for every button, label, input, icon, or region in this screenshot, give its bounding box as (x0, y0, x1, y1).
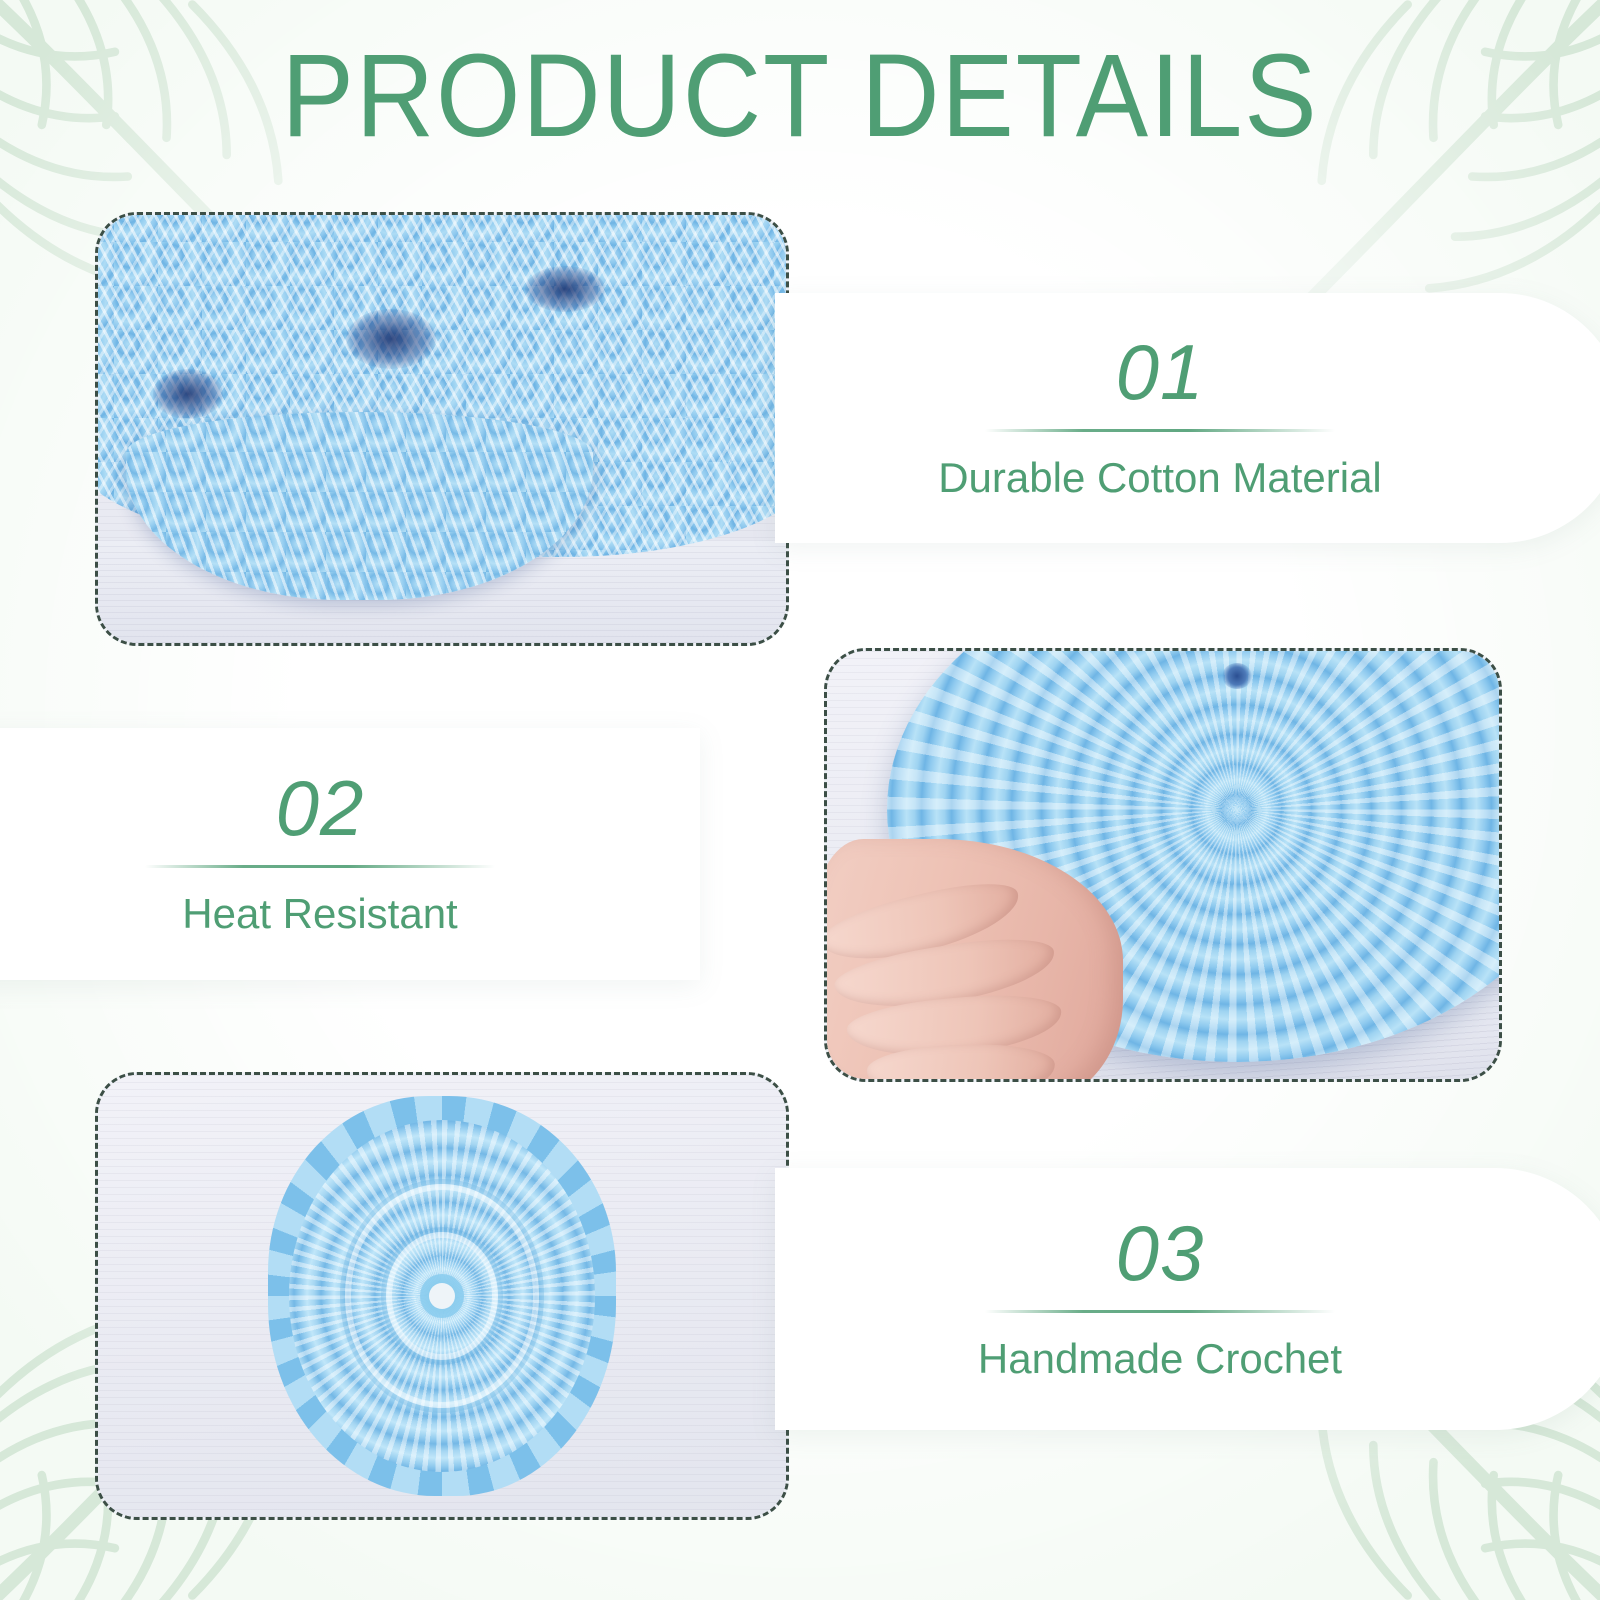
feature-number: 01 (1116, 333, 1205, 411)
feature-label: Handmade Crochet (978, 1335, 1342, 1383)
fabric-gap (525, 266, 605, 312)
divider (145, 865, 495, 868)
feature-label: Heat Resistant (182, 890, 457, 938)
feature-card-03: 03 Handmade Crochet (775, 1168, 1600, 1430)
feature-card-03-content: 03 Handmade Crochet (880, 1168, 1440, 1430)
crochet-doily (268, 1096, 616, 1496)
doily-center-hole (429, 1283, 455, 1309)
divider (985, 1310, 1335, 1313)
feature-card-01: 01 Durable Cotton Material (775, 293, 1600, 543)
photo-3-content (98, 1075, 786, 1517)
doily-center-hole (1222, 663, 1252, 689)
divider (985, 429, 1335, 432)
feature-card-01-content: 01 Durable Cotton Material (880, 293, 1440, 543)
photo-2-content (827, 651, 1499, 1079)
product-details-infographic: PRODUCT DETAILS (0, 0, 1600, 1600)
photo-1-content (98, 215, 786, 643)
feature-number: 02 (276, 769, 365, 847)
fabric-gap (346, 309, 436, 369)
fabric-gap (153, 369, 223, 419)
feature-number: 03 (1116, 1214, 1205, 1292)
feature-card-02: 02 Heat Resistant (0, 728, 700, 980)
product-photo-fabric-closeup (95, 212, 789, 646)
feature-label: Durable Cotton Material (938, 454, 1382, 502)
product-photo-hand-holding (824, 648, 1502, 1082)
page-title: PRODUCT DETAILS (64, 34, 1536, 159)
product-photo-full-doily (95, 1072, 789, 1520)
feature-card-02-content: 02 Heat Resistant (40, 728, 600, 980)
